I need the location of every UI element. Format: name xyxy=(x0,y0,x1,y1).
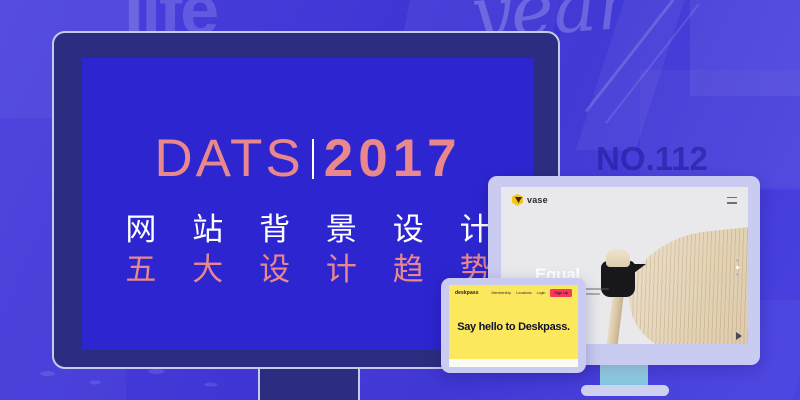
laptop-base xyxy=(449,359,578,367)
deskpass-topbar: deskpass Membership Locations Login Sign… xyxy=(449,285,578,300)
nav-item-login[interactable]: Login xyxy=(537,291,546,295)
hamburger-icon[interactable] xyxy=(727,197,737,204)
laptop-mockup: deskpass Membership Locations Login Sign… xyxy=(441,278,586,373)
vase-badge-icon xyxy=(512,194,523,206)
main-monitor-stand xyxy=(258,369,360,400)
poster-title-row: DATS 2017 xyxy=(154,132,461,185)
table-knob-illustration xyxy=(606,249,630,267)
carousel-dot-active[interactable] xyxy=(736,266,739,269)
year-text: 2017 xyxy=(324,132,462,185)
nav-item-membership[interactable]: Membership xyxy=(491,291,511,295)
desktop-monitor-foot xyxy=(581,385,669,396)
vase-topbar: vase xyxy=(501,187,748,213)
carousel-dots[interactable] xyxy=(736,259,739,276)
laptop-screen: deskpass Membership Locations Login Sign… xyxy=(449,285,578,359)
carousel-dot[interactable] xyxy=(736,259,739,262)
wooden-table-top-illustration xyxy=(623,222,748,344)
deskpass-headline: Say hello to Deskpass. xyxy=(449,321,578,333)
deskpass-logo-text[interactable]: deskpass xyxy=(455,290,479,296)
signup-button[interactable]: Sign Up xyxy=(550,289,572,297)
next-arrow-icon[interactable] xyxy=(736,332,742,340)
poster-subtitle: 网 站 背 景 设 计 xyxy=(112,211,503,250)
carousel-dot[interactable] xyxy=(736,273,739,276)
brand-text: DATS xyxy=(154,132,303,185)
vase-logo-text: vase xyxy=(527,195,548,205)
deskpass-nav: Membership Locations Login Sign Up xyxy=(491,289,572,297)
vase-logo[interactable]: vase xyxy=(512,194,548,206)
background-issue-number: NO.112 xyxy=(596,140,708,178)
poster-canvas: life year NO.112 DATS 2017 网 站 背 景 设 计 五… xyxy=(0,0,800,400)
nav-item-locations[interactable]: Locations xyxy=(516,291,531,295)
title-divider xyxy=(312,139,314,179)
